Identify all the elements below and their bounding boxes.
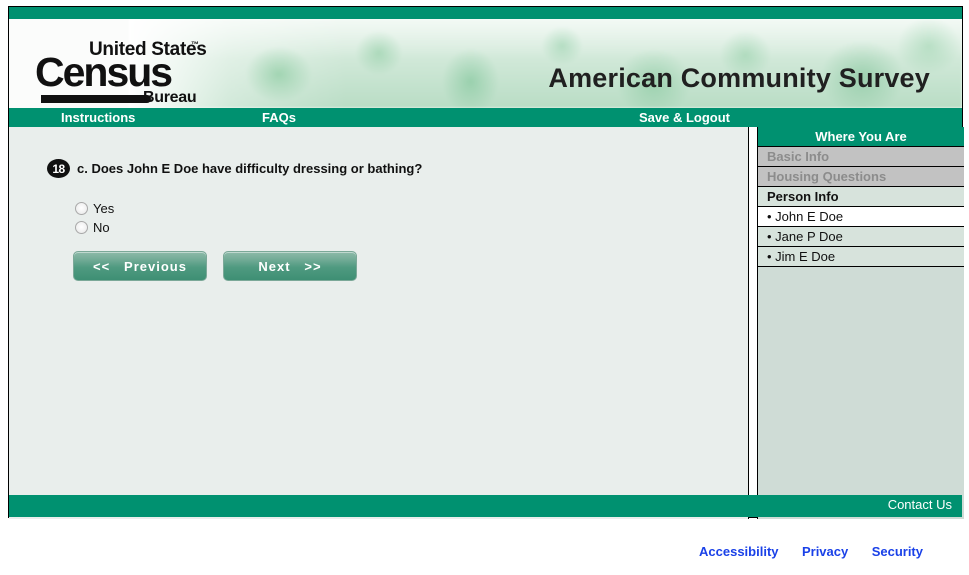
nav-item-instructions[interactable]: Instructions bbox=[61, 110, 135, 125]
option-no[interactable]: No bbox=[75, 218, 114, 237]
question-text: c. Does John E Doe have difficulty dress… bbox=[77, 159, 422, 178]
where-you-are-sidebar: Where You Are Basic Info Housing Questio… bbox=[757, 127, 964, 519]
navigation-buttons: << Previous Next >> bbox=[73, 251, 357, 281]
question-content-pane: 18 c. Does John E Doe have difficulty dr… bbox=[9, 127, 749, 519]
answer-options-group: Yes No bbox=[75, 199, 114, 237]
logo-underline-bar bbox=[41, 95, 151, 103]
census-bureau-logo: United States ™ Census Bureau bbox=[31, 39, 197, 105]
nav-item-faqs[interactable]: FAQs bbox=[262, 110, 296, 125]
survey-page-frame: United States ™ Census Bureau American C… bbox=[8, 6, 963, 518]
question-number-badge: 18 bbox=[47, 159, 70, 178]
sidebar-item-jim-e-doe[interactable]: • Jim E Doe bbox=[758, 247, 964, 267]
security-link[interactable]: Security bbox=[872, 544, 923, 559]
radio-yes-icon[interactable] bbox=[75, 202, 88, 215]
radio-no-icon[interactable] bbox=[75, 221, 88, 234]
option-no-label: No bbox=[93, 220, 110, 235]
footer-bar: Contact Us bbox=[9, 495, 962, 517]
nav-item-save-and-logout[interactable]: Save & Logout bbox=[639, 110, 730, 125]
main-navigation-bar: Instructions FAQs Save & Logout bbox=[9, 108, 962, 127]
contact-us-link[interactable]: Contact Us bbox=[888, 497, 952, 512]
site-banner: United States ™ Census Bureau American C… bbox=[9, 19, 962, 108]
page-body: 18 c. Does John E Doe have difficulty dr… bbox=[9, 127, 962, 519]
privacy-link[interactable]: Privacy bbox=[802, 544, 848, 559]
option-yes-label: Yes bbox=[93, 201, 114, 216]
sidebar-item-john-e-doe[interactable]: • John E Doe bbox=[758, 207, 964, 227]
bottom-links: Accessibility Privacy Security bbox=[0, 543, 963, 561]
page-title: American Community Survey bbox=[548, 63, 930, 94]
sidebar-item-basic-info: Basic Info bbox=[758, 147, 964, 167]
logo-bureau-text: Bureau bbox=[143, 89, 196, 107]
accessibility-link[interactable]: Accessibility bbox=[699, 544, 779, 559]
logo-census-text: Census bbox=[35, 52, 171, 93]
next-button[interactable]: Next >> bbox=[223, 251, 357, 281]
sidebar-header: Where You Are bbox=[758, 127, 964, 147]
sidebar-item-person-info: Person Info bbox=[758, 187, 964, 207]
sidebar-item-jane-p-doe[interactable]: • Jane P Doe bbox=[758, 227, 964, 247]
logo-trademark-icon: ™ bbox=[191, 40, 199, 49]
top-accent-bar bbox=[9, 7, 962, 19]
question-header: 18 c. Does John E Doe have difficulty dr… bbox=[47, 159, 422, 178]
option-yes[interactable]: Yes bbox=[75, 199, 114, 218]
previous-button[interactable]: << Previous bbox=[73, 251, 207, 281]
sidebar-item-housing-questions: Housing Questions bbox=[758, 167, 964, 187]
